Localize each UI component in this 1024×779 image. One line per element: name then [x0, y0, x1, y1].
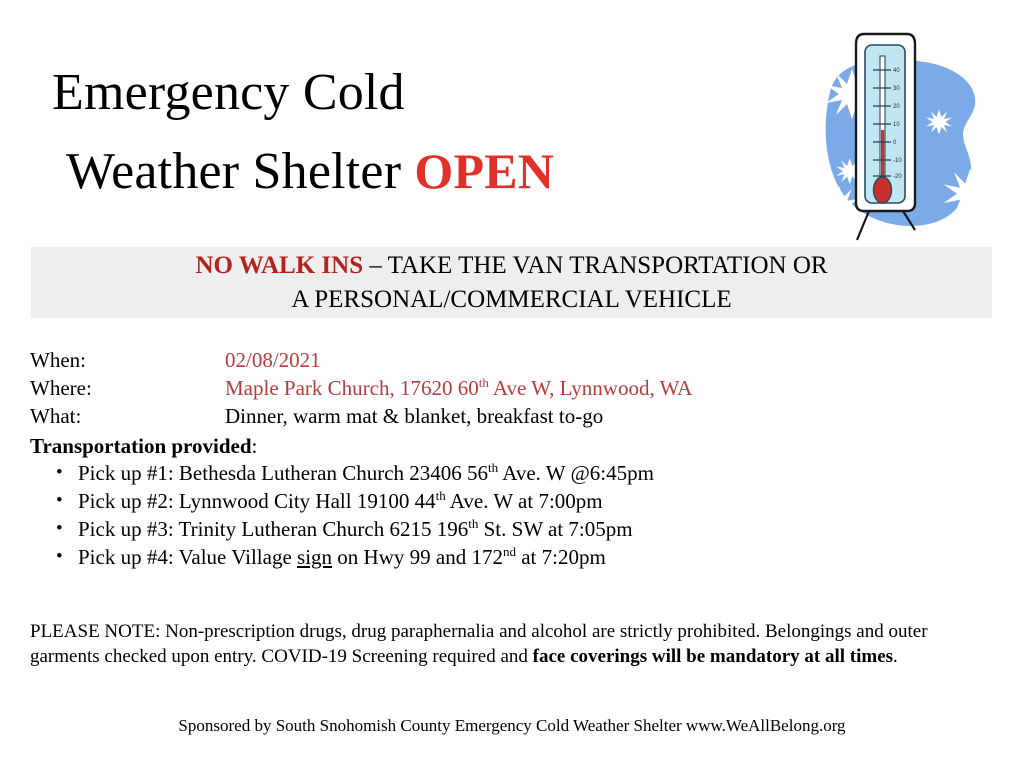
when-value: 02/08/2021 [225, 346, 321, 374]
detail-row-where: Where: Maple Park Church, 17620 60th Ave… [30, 374, 990, 402]
event-details: When: 02/08/2021 Where: Maple Park Churc… [30, 346, 990, 430]
list-item: Pick up #3: Trinity Lutheran Church 6215… [78, 515, 1008, 543]
svg-text:30: 30 [893, 86, 900, 92]
pickup-1-post: Ave. W @6:45pm [498, 461, 654, 485]
pickup-1-pre: Pick up #1: Bethesda Lutheran Church 234… [78, 461, 488, 485]
where-value-part1: Maple Park Church, 17620 60 [225, 376, 479, 400]
list-item: Pick up #2: Lynnwood City Hall 19100 44t… [78, 487, 1008, 515]
title-line-2-text: Weather Shelter [66, 143, 414, 200]
where-value-part2: Ave W, Lynnwood, WA [489, 376, 692, 400]
please-note-paragraph: PLEASE NOTE: Non-prescription drugs, dru… [30, 619, 978, 669]
what-label: What: [30, 402, 225, 430]
pickup-4-ordinal: nd [503, 544, 516, 559]
svg-text:40: 40 [893, 68, 900, 74]
pickup-list: Pick up #1: Bethesda Lutheran Church 234… [30, 459, 1008, 571]
thermometer-bulb [874, 177, 892, 203]
sponsor-footer: Sponsored by South Snohomish County Emer… [0, 714, 1024, 738]
where-value: Maple Park Church, 17620 60th Ave W, Lyn… [225, 374, 692, 402]
what-value: Dinner, warm mat & blanket, breakfast to… [225, 402, 603, 430]
pickup-4-mid: on Hwy 99 and 172 [332, 545, 503, 569]
pickup-4-pre: Pick up #4: Value Village [78, 545, 297, 569]
when-label: When: [30, 346, 225, 374]
notice-banner-line-1: NO WALK INS – TAKE THE VAN TRANSPORTATIO… [195, 249, 827, 283]
list-item: Pick up #1: Bethesda Lutheran Church 234… [78, 459, 1008, 487]
svg-text:10: 10 [893, 122, 900, 128]
pickup-3-post: St. SW at 7:05pm [478, 517, 632, 541]
pickup-2-pre: Pick up #2: Lynnwood City Hall 19100 44 [78, 489, 436, 513]
notice-banner-line-2: A PERSONAL/COMMERCIAL VEHICLE [291, 283, 731, 317]
pickup-3-pre: Pick up #3: Trinity Lutheran Church 6215… [78, 517, 468, 541]
pickup-3-ordinal: th [468, 516, 478, 531]
thermometer-mercury [881, 130, 884, 182]
transportation-heading: Transportation provided: [30, 432, 257, 460]
please-note-bold: face coverings will be mandatory at all … [533, 646, 893, 667]
pickup-4-underlined-word: sign [297, 545, 332, 569]
pickup-4-post: at 7:20pm [516, 545, 606, 569]
status-badge-open: OPEN [414, 143, 554, 199]
thermometer-snowflakes-illustration: 40 30 20 10 0 -10 -20 [795, 18, 1010, 250]
please-note-part2: . [893, 646, 898, 667]
where-value-ordinal: th [479, 375, 489, 390]
title-line-1: Emergency Cold [52, 54, 752, 132]
detail-row-what: What: Dinner, warm mat & blanket, breakf… [30, 402, 990, 430]
svg-text:-20: -20 [893, 174, 902, 180]
pickup-2-ordinal: th [436, 488, 446, 503]
pickup-1-ordinal: th [488, 460, 498, 475]
svg-text:20: 20 [893, 104, 900, 110]
transportation-heading-colon: : [252, 434, 258, 458]
notice-banner-line-1-rest: – TAKE THE VAN TRANSPORTATION OR [363, 252, 827, 279]
snowflake-icon [927, 224, 952, 248]
svg-text:-10: -10 [893, 158, 902, 164]
notice-banner: NO WALK INS – TAKE THE VAN TRANSPORTATIO… [31, 247, 992, 318]
list-item: Pick up #4: Value Village sign on Hwy 99… [78, 543, 1008, 571]
transportation-heading-bold: Transportation provided [30, 434, 252, 458]
title-line-2: Weather Shelter OPEN [52, 132, 752, 211]
where-label: Where: [30, 374, 225, 402]
pickup-2-post: Ave. W at 7:00pm [446, 489, 603, 513]
detail-row-when: When: 02/08/2021 [30, 346, 990, 374]
no-walk-ins-emphasis: NO WALK INS [195, 252, 363, 279]
page-title: Emergency Cold Weather Shelter OPEN [52, 54, 752, 211]
